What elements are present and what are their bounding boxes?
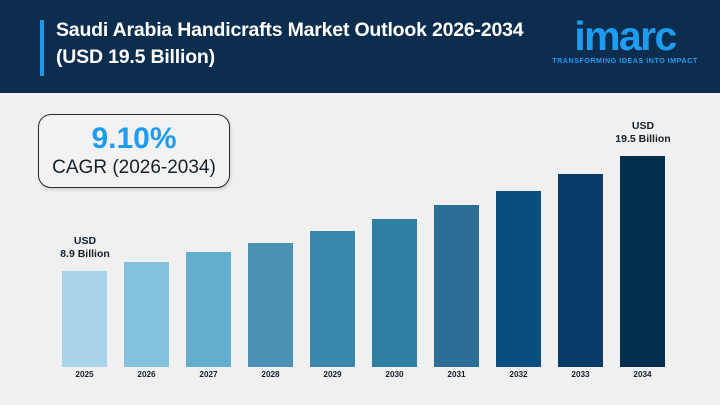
- bar-2028[interactable]: [248, 243, 293, 367]
- bar-group: USD8.9 Billion: [62, 93, 107, 367]
- bar-group: [372, 93, 417, 367]
- x-axis-label-2025: 2025: [62, 370, 107, 379]
- page-title: Saudi Arabia Handicrafts Market Outlook …: [56, 17, 526, 71]
- bar-group: [496, 93, 541, 367]
- bar-2025[interactable]: [62, 271, 107, 367]
- x-axis-label-2034: 2034: [620, 370, 665, 379]
- bar-group: [124, 93, 169, 367]
- bar-group: [434, 93, 479, 367]
- callout-line-1: USD: [583, 120, 703, 133]
- callout-line-2: 19.5 Billion: [583, 133, 703, 146]
- bar-2032[interactable]: [496, 191, 541, 367]
- bar-value-callout: USD19.5 Billion: [583, 120, 703, 146]
- bar-2030[interactable]: [372, 219, 417, 367]
- x-axis-label-2026: 2026: [124, 370, 169, 379]
- bar-group: [248, 93, 293, 367]
- bar-group: [186, 93, 231, 367]
- bar-2034[interactable]: [620, 156, 665, 367]
- bar-2033[interactable]: [558, 174, 603, 367]
- page-header: Saudi Arabia Handicrafts Market Outlook …: [0, 0, 720, 93]
- title-accent-bar: [40, 20, 44, 76]
- imarc-logo: imarc TRANSFORMING IDEAS INTO IMPACT: [550, 14, 700, 76]
- bar-2029[interactable]: [310, 231, 355, 367]
- bar-chart: USD8.9 Billion20252026202720282029203020…: [0, 93, 720, 405]
- x-axis-label-2031: 2031: [434, 370, 479, 379]
- x-axis-label-2030: 2030: [372, 370, 417, 379]
- x-axis-label-2027: 2027: [186, 370, 231, 379]
- x-axis-label-2029: 2029: [310, 370, 355, 379]
- bar-group: [310, 93, 355, 367]
- x-axis-label-2033: 2033: [558, 370, 603, 379]
- bar-2026[interactable]: [124, 262, 169, 367]
- x-axis-label-2028: 2028: [248, 370, 293, 379]
- bar-2031[interactable]: [434, 205, 479, 367]
- chart-plot-area: USD8.9 Billion20252026202720282029203020…: [62, 93, 678, 367]
- logo-wordmark: imarc: [550, 14, 700, 58]
- bar-2027[interactable]: [186, 252, 231, 367]
- x-axis-label-2032: 2032: [496, 370, 541, 379]
- bar-group: USD19.5 Billion: [620, 93, 665, 367]
